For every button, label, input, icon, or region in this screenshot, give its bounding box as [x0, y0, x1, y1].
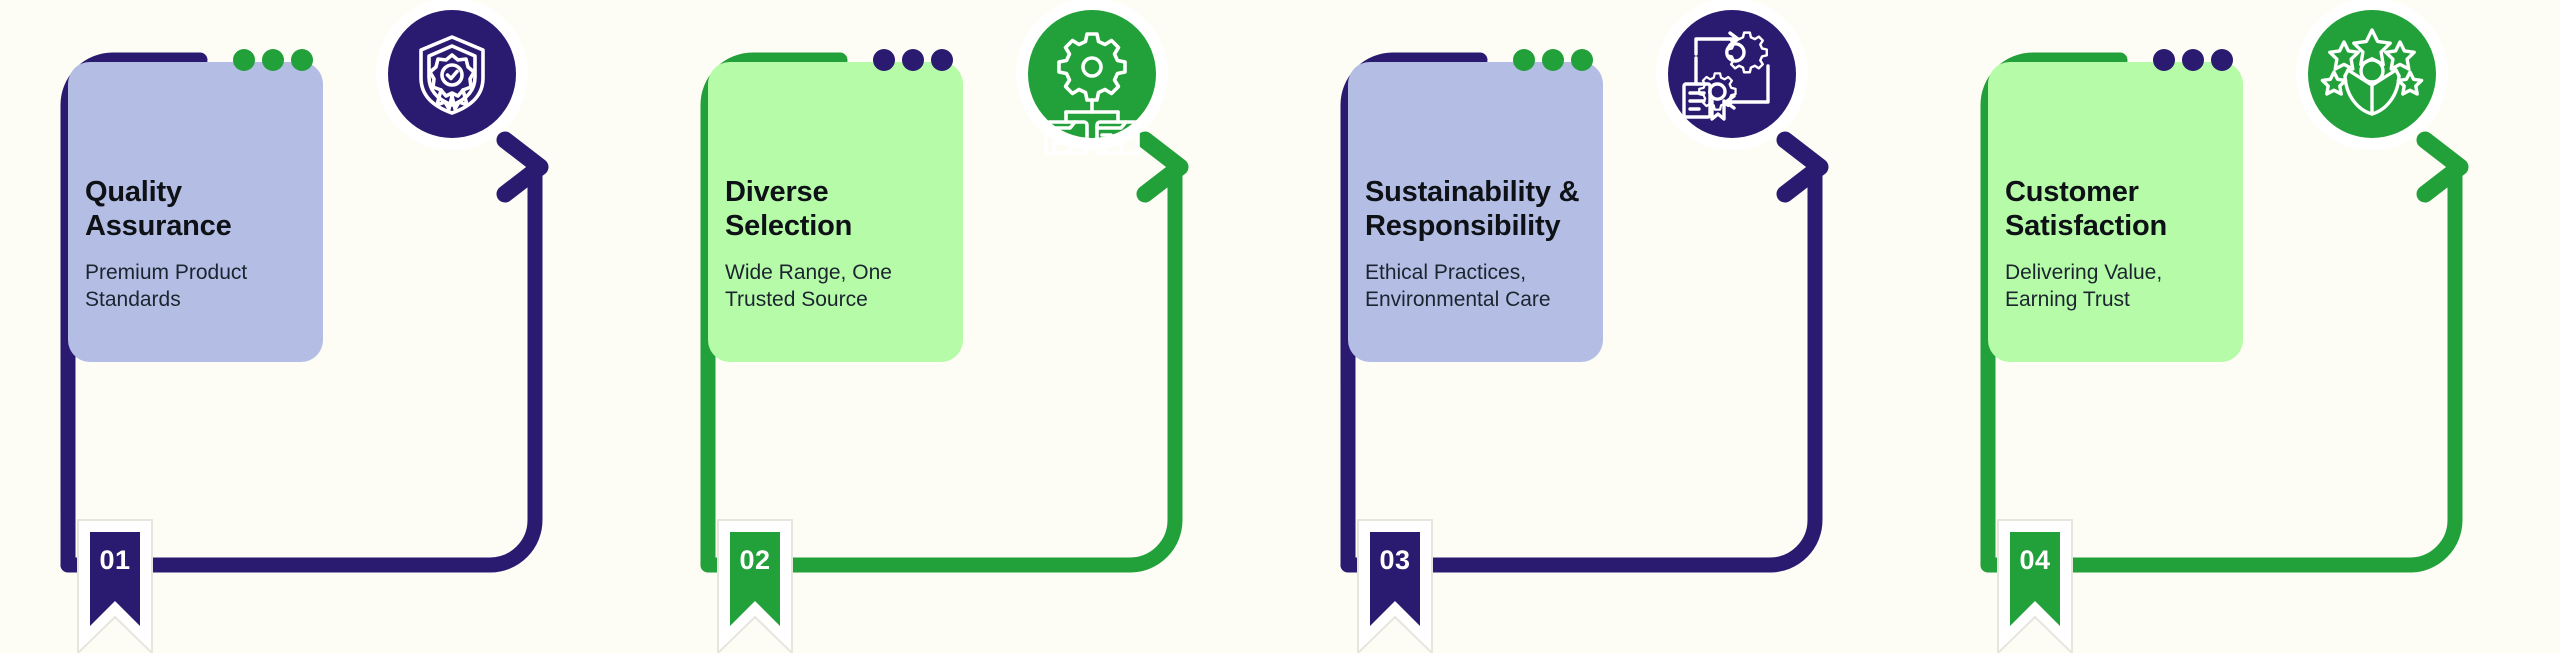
card-subtitle-2: Wide Range, One Trusted Source: [725, 260, 980, 314]
process-step-2[interactable]: Diverse Selection Wide Range, One Truste…: [640, 0, 1280, 653]
card-subtitle-4: Delivering Value, Earning Trust: [2005, 260, 2260, 314]
dot-icon-3b: [1542, 49, 1564, 71]
dot-icon-4b: [2182, 49, 2204, 71]
dot-icon-3a: [1513, 49, 1535, 71]
number-badge-4: [1998, 520, 2072, 653]
process-step-4[interactable]: Customer Satisfaction Delivering Value, …: [1920, 0, 2560, 653]
dot-icon-2b: [902, 49, 924, 71]
dot-icon-4a: [2153, 49, 2175, 71]
step-number-3: 03: [1365, 545, 1425, 576]
step-number-2: 02: [725, 545, 785, 576]
card-title-2: Diverse Selection: [725, 176, 980, 244]
icon-badge-circle-4: [2296, 0, 2448, 150]
dot-icon-3c: [1571, 49, 1593, 71]
dot-icon-2a: [873, 49, 895, 71]
step-number-1: 01: [85, 545, 145, 576]
dot-icon-1c: [291, 49, 313, 71]
dots-group-1: [233, 49, 313, 71]
card-subtitle-3: Ethical Practices, Environmental Care: [1365, 260, 1620, 314]
card-title-1: Quality Assurance: [85, 176, 340, 244]
icon-badge-circle-3: [1656, 0, 1808, 150]
card-title-4: Customer Satisfaction: [2005, 176, 2260, 244]
dots-group-4: [2153, 49, 2233, 71]
infographic-canvas: Quality Assurance Premium Product Standa…: [0, 0, 2560, 653]
card-title-3: Sustainability & Responsibility: [1365, 176, 1620, 244]
step-number-4: 04: [2005, 545, 2065, 576]
card-subtitle-1: Premium Product Standards: [85, 260, 340, 314]
card-text-2: Diverse Selection Wide Range, One Truste…: [725, 176, 980, 314]
card-text-4: Customer Satisfaction Delivering Value, …: [2005, 176, 2260, 314]
number-badge-1: [78, 520, 152, 653]
process-step-1[interactable]: Quality Assurance Premium Product Standa…: [0, 0, 640, 653]
number-badge-2: [718, 520, 792, 653]
card-text-3: Sustainability & Responsibility Ethical …: [1365, 176, 1620, 314]
process-step-3[interactable]: Sustainability & Responsibility Ethical …: [1280, 0, 1920, 653]
dot-icon-1b: [262, 49, 284, 71]
dot-icon-1a: [233, 49, 255, 71]
dot-icon-4c: [2211, 49, 2233, 71]
card-text-1: Quality Assurance Premium Product Standa…: [85, 176, 340, 314]
dots-group-2: [873, 49, 953, 71]
dot-icon-2c: [931, 49, 953, 71]
dots-group-3: [1513, 49, 1593, 71]
number-badge-3: [1358, 520, 1432, 653]
